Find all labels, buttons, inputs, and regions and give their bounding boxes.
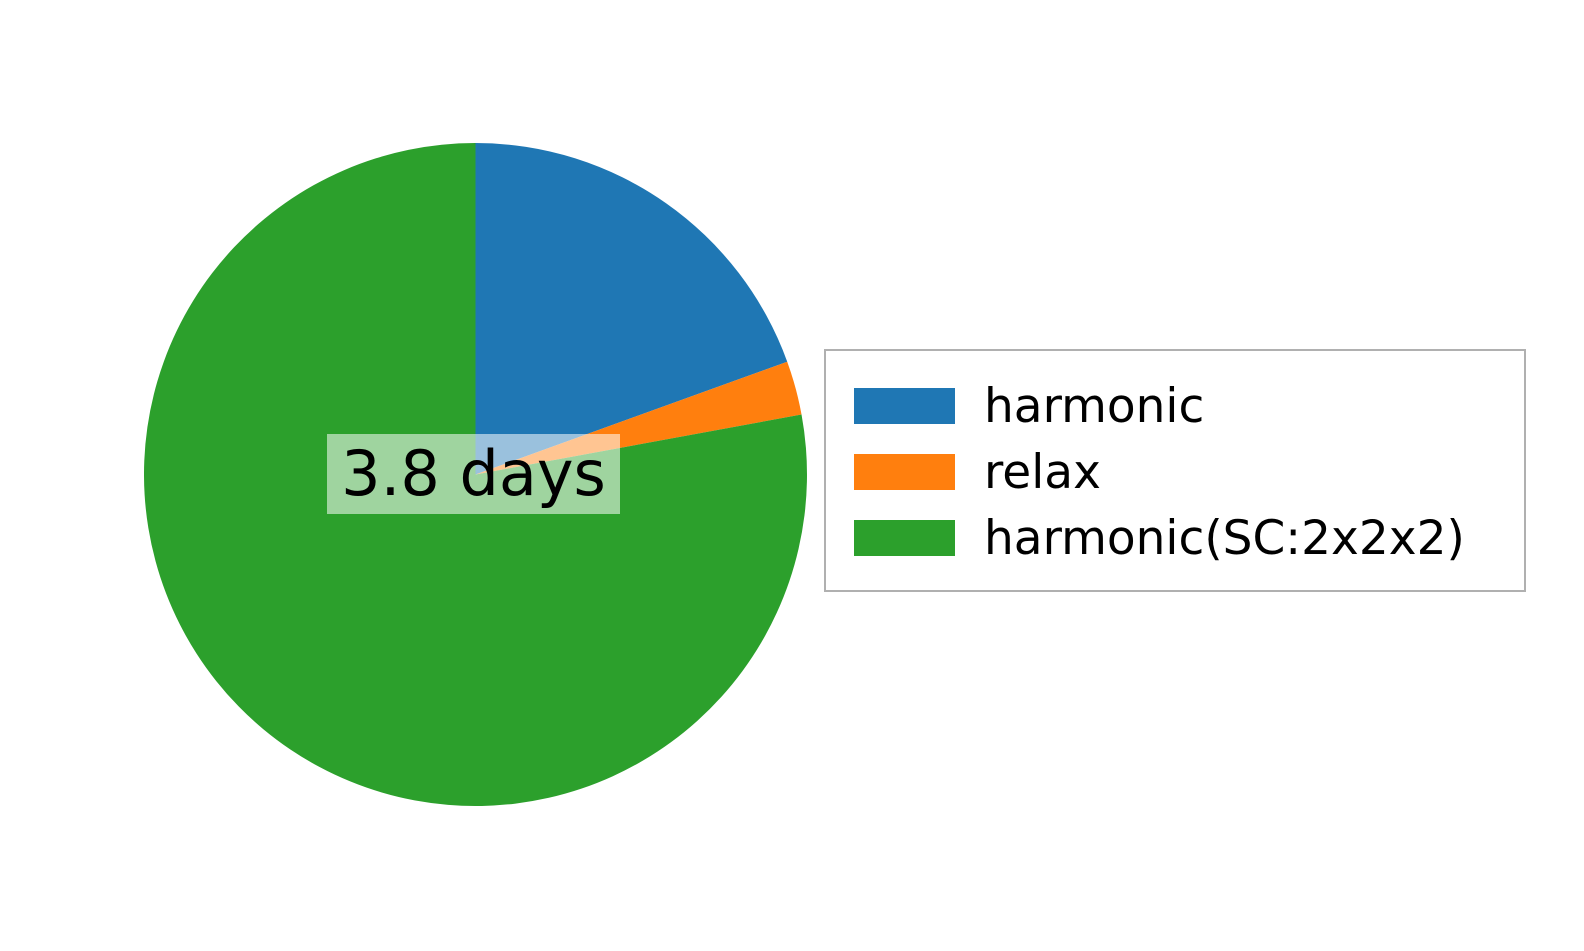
legend-label-harmonic-sc: harmonic(SC:2x2x2)	[984, 515, 1465, 562]
legend-item-relax[interactable]: relax	[826, 439, 1524, 505]
legend-item-harmonic[interactable]: harmonic	[826, 373, 1524, 439]
legend-label-relax: relax	[984, 449, 1101, 496]
figure-canvas: 3.8 days harmonic relax harmonic(SC:2x2x…	[0, 0, 1584, 951]
legend-label-harmonic: harmonic	[984, 383, 1204, 430]
legend-swatch-harmonic-sc	[854, 520, 955, 556]
legend-swatch-harmonic	[854, 388, 955, 424]
center-label-box: 3.8 days	[327, 434, 620, 514]
legend-swatch-relax	[854, 454, 955, 490]
center-label-text: 3.8 days	[341, 443, 606, 505]
legend-item-harmonic-sc[interactable]: harmonic(SC:2x2x2)	[826, 505, 1524, 571]
legend-box: harmonic relax harmonic(SC:2x2x2)	[824, 349, 1526, 592]
